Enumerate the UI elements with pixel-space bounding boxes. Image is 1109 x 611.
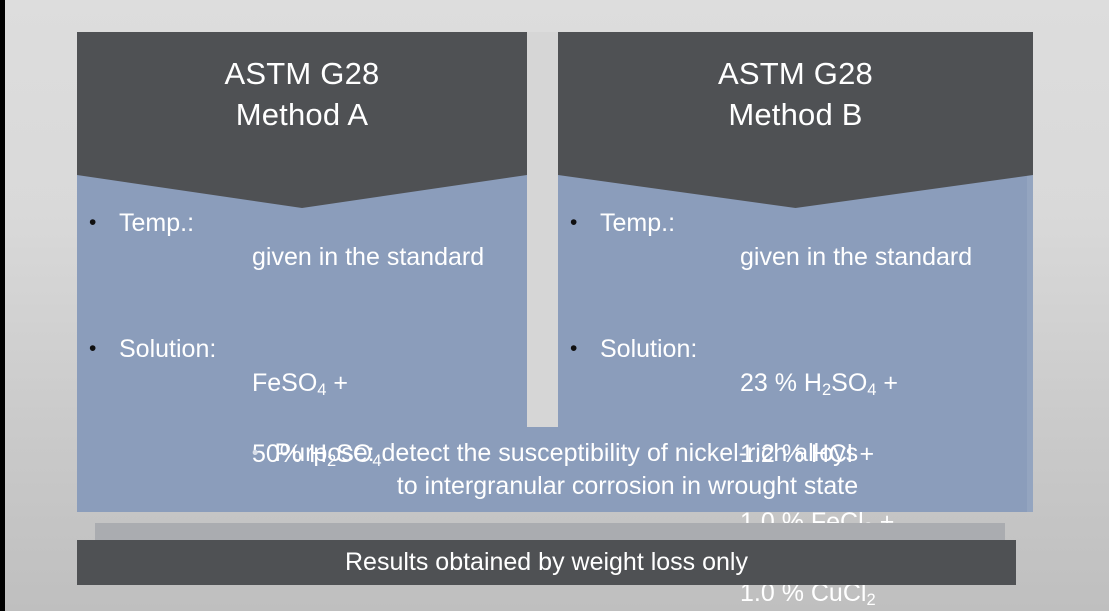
- slide-canvas: ASTM G28 Method A ASTM G28 Method B • Te…: [0, 0, 1109, 611]
- header-method-a-line1: ASTM G28: [77, 53, 527, 94]
- header-method-b-line2: Method B: [558, 94, 1033, 135]
- bullet-marker-icon: •: [89, 332, 119, 366]
- bullet-marker-icon: •: [570, 332, 600, 366]
- bullet-value-temp-b: given in the standard: [740, 206, 1033, 308]
- value-line: 23 % H2SO4 +: [740, 366, 1033, 403]
- footer-connector-bar: [95, 523, 1005, 540]
- purpose-row: • Purpose: detect the susceptibility of …: [77, 437, 1033, 503]
- bullet-label-solution-a: Solution:: [119, 332, 252, 366]
- bullet-marker-icon: •: [570, 206, 600, 240]
- header-method-a: ASTM G28 Method A: [77, 32, 527, 175]
- purpose-line-1: Purpose: detect the susceptibility of ni…: [275, 437, 859, 470]
- value-line: given in the standard: [252, 240, 527, 274]
- purpose-text: Purpose: detect the susceptibility of ni…: [275, 437, 859, 503]
- bullet-marker-icon: •: [89, 206, 119, 240]
- footer-text: Results obtained by weight loss only: [345, 548, 748, 577]
- bullet-label-solution-b: Solution:: [600, 332, 740, 366]
- value-line: given in the standard: [740, 240, 1033, 274]
- bullet-row-temp-b: • Temp.: given in the standard: [558, 206, 1033, 308]
- header-method-b-line1: ASTM G28: [558, 53, 1033, 94]
- header-method-b: ASTM G28 Method B: [558, 32, 1033, 175]
- bullet-row-temp-a: • Temp.: given in the standard: [77, 206, 527, 308]
- column-divider: [527, 32, 558, 427]
- value-line: FeSO4 +: [252, 366, 527, 403]
- footer-bar: Results obtained by weight loss only: [77, 540, 1016, 585]
- bullet-label-temp-b: Temp.:: [600, 206, 740, 240]
- bullet-value-temp-a: given in the standard: [252, 206, 527, 308]
- bullet-label-temp-a: Temp.:: [119, 206, 252, 240]
- bullet-marker-icon: •: [252, 437, 259, 503]
- purpose-line-2: to intergranular corrosion in wrought st…: [275, 470, 859, 503]
- slide-left-border: [0, 0, 5, 611]
- header-method-a-line2: Method A: [77, 94, 527, 135]
